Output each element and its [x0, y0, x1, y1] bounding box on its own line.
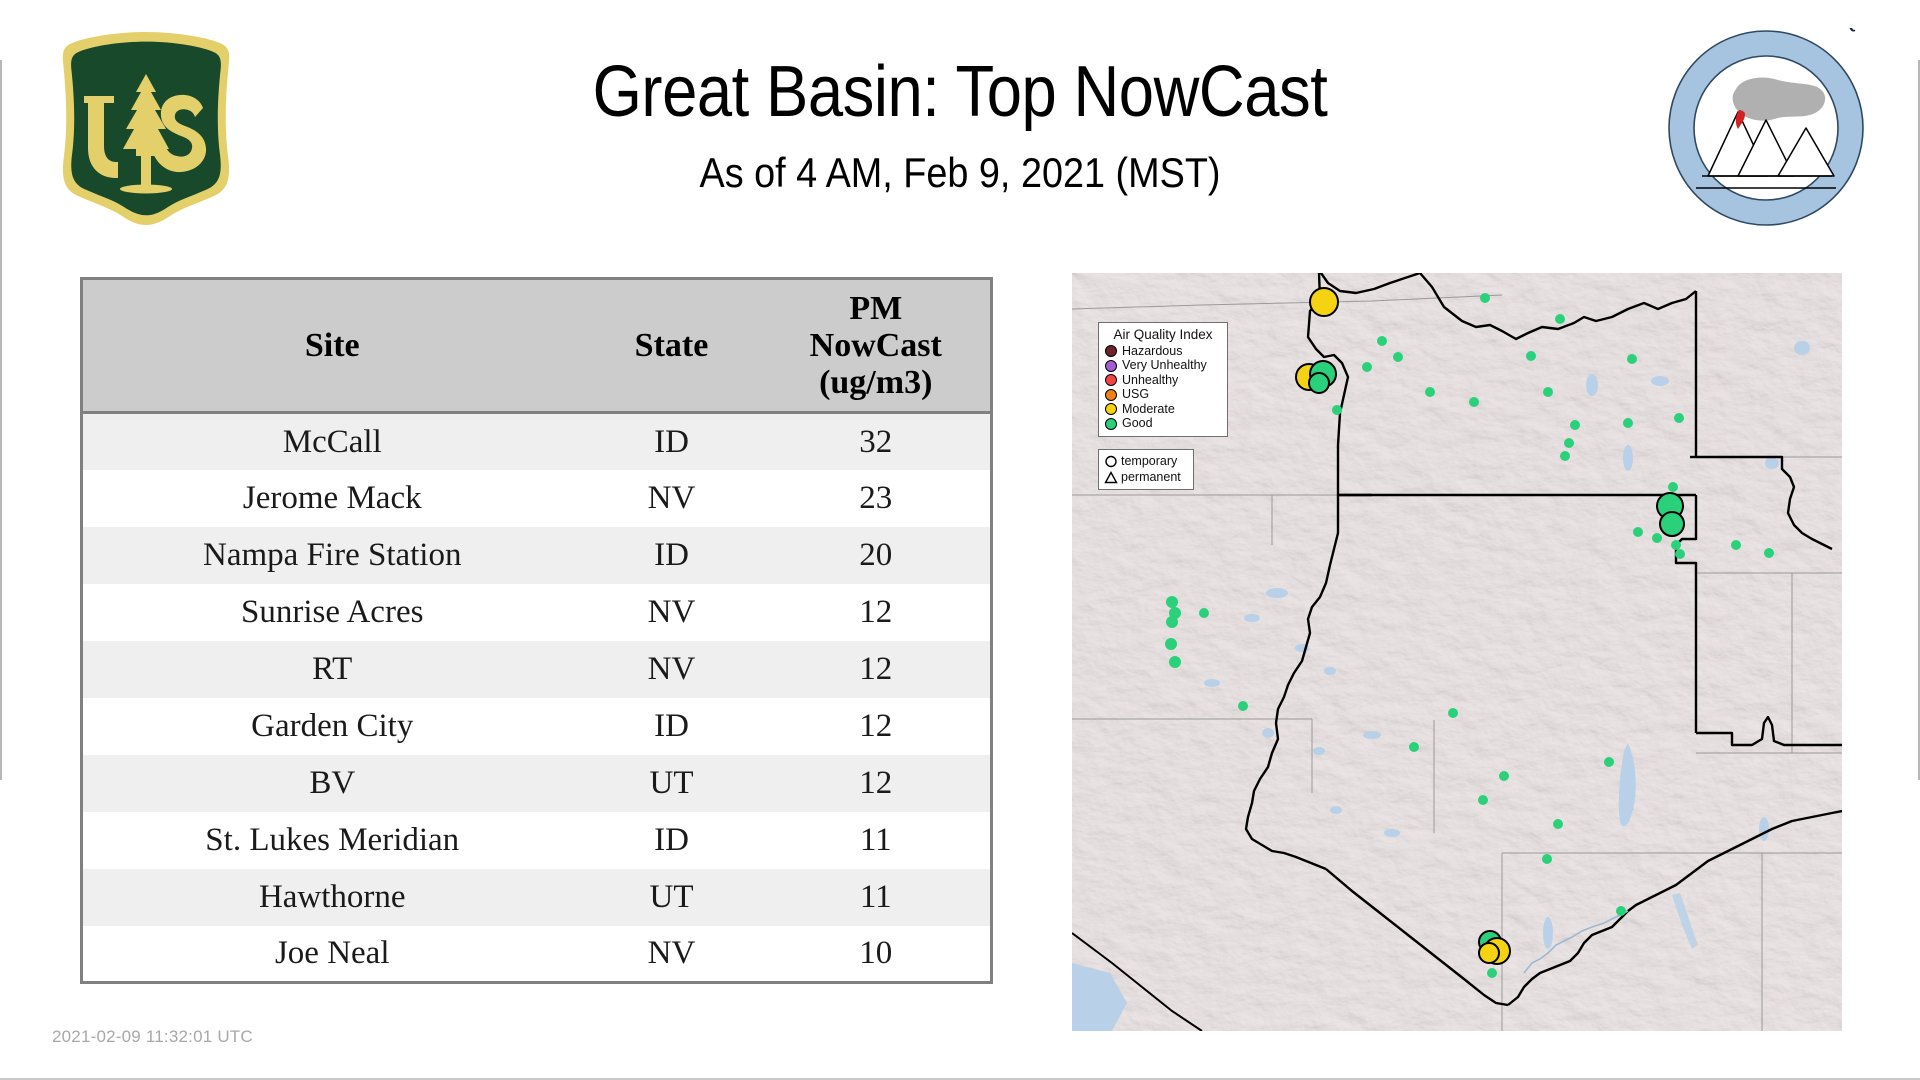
site-cell: Nampa Fire Station: [82, 527, 582, 584]
table-row[interactable]: Nampa Fire StationID20: [82, 527, 992, 584]
monitor-marker-st-lukes-meridian[interactable]: [1308, 372, 1330, 394]
aqi-legend-label: Unhealthy: [1122, 374, 1178, 387]
pm-cell: 23: [762, 470, 992, 527]
state-cell: ID: [582, 527, 762, 584]
monitor-marker-good-site-06[interactable]: [1526, 351, 1536, 361]
table-row[interactable]: BVUT12: [82, 755, 992, 812]
aqi-legend-row: Hazardous: [1105, 344, 1221, 359]
monitor-marker-good-site-05[interactable]: [1393, 352, 1403, 362]
state-cell: UT: [582, 755, 762, 812]
monitor-marker-good-site-07[interactable]: [1627, 354, 1637, 364]
table-row[interactable]: St. Lukes MeridianID11: [82, 812, 992, 869]
aqi-legend-row: Unhealthy: [1105, 373, 1221, 388]
nowcast-table-container: Site State PM NowCast (ug/m3) McCallID32…: [80, 277, 990, 984]
pm-header-line3: (ug/m3): [819, 364, 932, 401]
table-header: Site State PM NowCast (ug/m3): [82, 279, 992, 413]
monitor-marker-good-site-12[interactable]: [1623, 418, 1633, 428]
aqi-swatch-icon: [1105, 345, 1117, 357]
state-cell: ID: [582, 812, 762, 869]
table-row[interactable]: RTNV12: [82, 641, 992, 698]
aqi-legend: Air Quality Index HazardousVery Unhealth…: [1098, 322, 1228, 437]
great-basin-map[interactable]: Air Quality Index HazardousVery Unhealth…: [1072, 273, 1842, 1031]
pm-cell: 11: [762, 812, 992, 869]
monitor-marker-good-site-33[interactable]: [1499, 771, 1509, 781]
aqi-swatch-icon: [1105, 403, 1117, 415]
site-type-temporary-label: temporary: [1121, 454, 1177, 468]
monitor-marker-good-site-15[interactable]: [1564, 438, 1574, 448]
monitor-marker-good-site-08[interactable]: [1332, 405, 1342, 415]
pm-cell: 11: [762, 869, 992, 926]
monitor-marker-good-site-39[interactable]: [1487, 968, 1497, 978]
aqi-swatch-icon: [1105, 374, 1117, 386]
pm-header-line1: PM: [849, 290, 902, 327]
monitor-marker-mccall[interactable]: [1309, 287, 1339, 317]
site-cell: St. Lukes Meridian: [82, 812, 582, 869]
monitor-marker-good-site-36[interactable]: [1553, 819, 1563, 829]
pm-cell: 20: [762, 527, 992, 584]
pm-cell: 32: [762, 413, 992, 470]
monitor-marker-good-site-01[interactable]: [1480, 293, 1490, 303]
wildland-fire-air-quality-logo: WILDLAND FIRE • AIR QUALITY RESPONSE PRO…: [1666, 28, 1866, 228]
monitor-marker-good-site-18[interactable]: [1633, 527, 1643, 537]
site-cell: Joe Neal: [82, 926, 582, 983]
monitor-marker-good-site-34[interactable]: [1478, 795, 1488, 805]
monitor-marker-good-site-09[interactable]: [1469, 397, 1479, 407]
pm-cell: 12: [762, 698, 992, 755]
monitor-marker-good-site-23[interactable]: [1764, 548, 1774, 558]
site-type-temporary: temporary: [1104, 453, 1188, 469]
frame-edge-left: [0, 60, 2, 780]
monitor-marker-good-site-26[interactable]: [1166, 616, 1178, 628]
aqi-legend-row: Good: [1105, 417, 1221, 432]
table-row[interactable]: Jerome MackNV23: [82, 470, 992, 527]
aqi-legend-row: Moderate: [1105, 402, 1221, 417]
monitor-marker-good-site-14[interactable]: [1570, 420, 1580, 430]
aqi-legend-label: Good: [1122, 417, 1153, 430]
wfaqrp-bottom-text: RESPONSE PROGRAM: [1666, 28, 1847, 32]
monitor-marker-good-site-30[interactable]: [1238, 701, 1248, 711]
monitor-marker-good-site-11[interactable]: [1543, 387, 1553, 397]
pm-cell: 12: [762, 641, 992, 698]
aqi-legend-title: Air Quality Index: [1105, 327, 1221, 342]
monitor-marker-good-site-35[interactable]: [1604, 757, 1614, 767]
table-row[interactable]: HawthorneUT11: [82, 869, 992, 926]
pm-header-line2: NowCast: [810, 327, 942, 364]
aqi-swatch-icon: [1105, 360, 1117, 372]
site-cell: Jerome Mack: [82, 470, 582, 527]
table-body: McCallID32Jerome MackNV23Nampa Fire Stat…: [82, 413, 992, 983]
nowcast-table: Site State PM NowCast (ug/m3) McCallID32…: [80, 277, 993, 984]
aqi-swatch-icon: [1105, 418, 1117, 430]
monitor-marker-good-site-21[interactable]: [1675, 549, 1685, 559]
page-subtitle: As of 4 AM, Feb 9, 2021 (MST): [96, 148, 1824, 198]
pm-cell: 10: [762, 926, 992, 983]
site-cell: Hawthorne: [82, 869, 582, 926]
monitor-marker-hawthorne-utah[interactable]: [1659, 511, 1685, 537]
column-header-state[interactable]: State: [582, 279, 762, 413]
monitor-marker-good-site-32[interactable]: [1409, 742, 1419, 752]
column-header-site[interactable]: Site: [82, 279, 582, 413]
aqi-legend-label: USG: [1122, 388, 1149, 401]
table-row[interactable]: Sunrise AcresNV12: [82, 584, 992, 641]
monitor-marker-good-site-16[interactable]: [1560, 451, 1570, 461]
pm-cell: 12: [762, 584, 992, 641]
table-row[interactable]: McCallID32: [82, 413, 992, 470]
site-cell: RT: [82, 641, 582, 698]
table-row[interactable]: Garden CityID12: [82, 698, 992, 755]
fs-bottom-text: DEPARTMENT OF AGRICULTURE: [48, 28, 244, 31]
site-cell: Sunrise Acres: [82, 584, 582, 641]
aqi-legend-row: Very Unhealthy: [1105, 359, 1221, 374]
state-cell: ID: [582, 413, 762, 470]
monitor-marker-good-site-29[interactable]: [1169, 656, 1181, 668]
site-type-legend: temporary permanent: [1098, 449, 1194, 490]
site-cell: BV: [82, 755, 582, 812]
monitor-marker-good-site-31[interactable]: [1448, 708, 1458, 718]
site-type-permanent: permanent: [1104, 469, 1188, 485]
site-cell: Garden City: [82, 698, 582, 755]
aqi-legend-row: USG: [1105, 388, 1221, 403]
aqi-legend-label: Moderate: [1122, 403, 1175, 416]
pm-cell: 12: [762, 755, 992, 812]
circle-marker-icon: [1104, 454, 1118, 469]
table-header-row: Site State PM NowCast (ug/m3): [82, 279, 992, 413]
monitor-marker-good-site-22[interactable]: [1731, 540, 1741, 550]
monitor-marker-sunrise-acres[interactable]: [1478, 942, 1500, 964]
wfaqrp-seal-icon: WILDLAND FIRE • AIR QUALITY RESPONSE PRO…: [1666, 28, 1866, 228]
monitor-marker-good-site-38[interactable]: [1616, 906, 1626, 916]
page-title: Great Basin: Top NowCast: [115, 52, 1805, 132]
state-cell: NV: [582, 926, 762, 983]
monitor-marker-good-site-04[interactable]: [1362, 362, 1372, 372]
triangle-marker-icon: [1104, 470, 1118, 485]
state-cell: UT: [582, 869, 762, 926]
generated-timestamp: 2021-02-09 11:32:01 UTC: [52, 1027, 253, 1047]
column-header-pm-nowcast[interactable]: PM NowCast (ug/m3): [762, 279, 992, 413]
monitor-marker-good-site-28[interactable]: [1165, 638, 1177, 650]
aqi-swatch-icon: [1105, 389, 1117, 401]
table-row[interactable]: Joe NealNV10: [82, 926, 992, 983]
state-cell: NV: [582, 584, 762, 641]
monitor-marker-good-site-13[interactable]: [1674, 413, 1684, 423]
monitor-marker-good-site-37[interactable]: [1542, 854, 1552, 864]
monitor-marker-good-site-03[interactable]: [1555, 314, 1565, 324]
state-cell: ID: [582, 698, 762, 755]
state-cell: NV: [582, 470, 762, 527]
state-cell: NV: [582, 641, 762, 698]
site-cell: McCall: [82, 413, 582, 470]
monitor-marker-good-site-02[interactable]: [1377, 336, 1387, 346]
monitor-marker-good-site-27[interactable]: [1199, 608, 1209, 618]
aqi-legend-label: Very Unhealthy: [1122, 359, 1207, 372]
aqi-legend-label: Hazardous: [1122, 345, 1182, 358]
monitor-marker-good-site-10[interactable]: [1425, 387, 1435, 397]
monitor-marker-good-site-19[interactable]: [1652, 533, 1662, 543]
site-type-permanent-label: permanent: [1121, 470, 1181, 484]
monitor-marker-good-site-17[interactable]: [1668, 482, 1678, 492]
